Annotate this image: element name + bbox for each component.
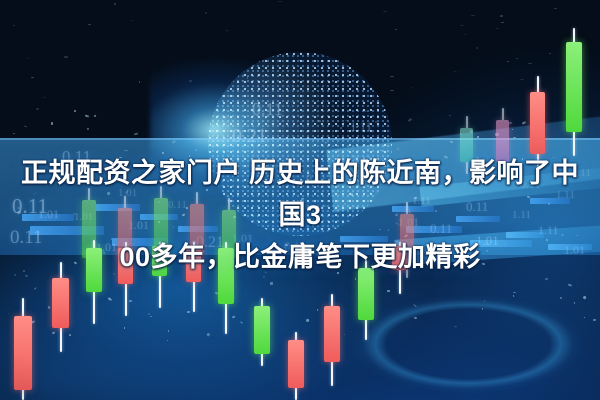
vignette-overlay [0, 0, 600, 400]
banner-image: 0.110.110.111.011.011.011.111.010.210.11… [0, 0, 600, 400]
